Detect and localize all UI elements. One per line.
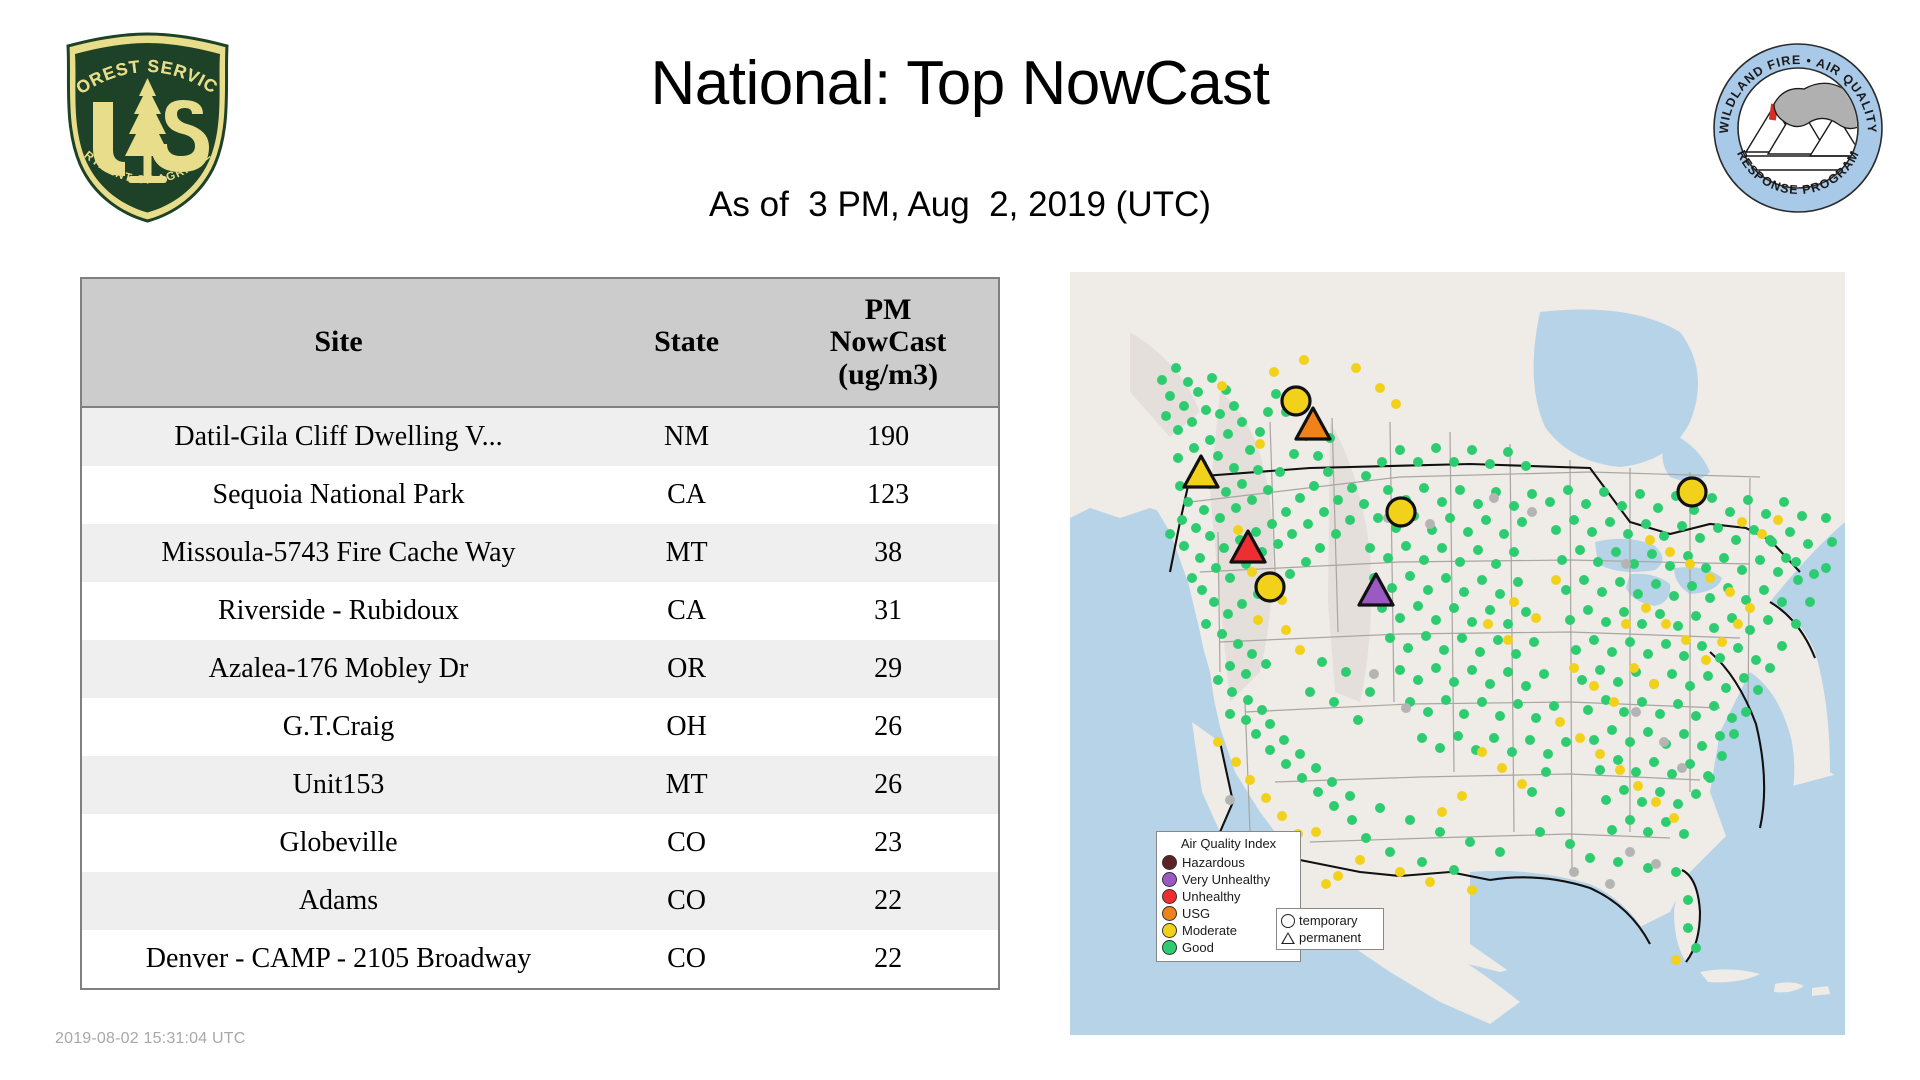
cell-state: OH [595, 698, 778, 756]
top-nowcast-table: Site State PM NowCast (ug/m3) Datil-Gila… [80, 277, 1000, 990]
cell-site: Missoula-5743 Fire Cache Way [82, 524, 595, 582]
page-title: National: Top NowCast [0, 48, 1920, 119]
cell-pm: 29 [778, 640, 998, 698]
column-header-pm-line1: PM [782, 294, 994, 326]
cell-site: Adams [82, 872, 595, 930]
cell-pm: 190 [778, 407, 998, 466]
cell-site: Globeville [82, 814, 595, 872]
aqi-swatch-moderate [1162, 923, 1177, 938]
cell-site: Unit153 [82, 756, 595, 814]
marker-denver [1387, 498, 1415, 526]
table-row[interactable]: Denver - CAMP - 2105 BroadwayCO22 [82, 930, 998, 988]
aqi-legend-item-hazardous: Hazardous [1162, 854, 1295, 871]
footer-timestamp: 2019-08-02 15:31:04 UTC [55, 1030, 246, 1048]
cell-pm: 22 [778, 930, 998, 988]
table-row[interactable]: AdamsCO22 [82, 872, 998, 930]
cell-pm: 23 [778, 814, 998, 872]
column-header-state: State [595, 279, 778, 407]
aqi-legend-item-very-unhealthy: Very Unhealthy [1162, 871, 1295, 888]
table-row[interactable]: Missoula-5743 Fire Cache WayMT38 [82, 524, 998, 582]
aqi-legend-item-unhealthy: Unhealthy [1162, 888, 1295, 905]
cell-pm: 31 [778, 582, 998, 640]
table-header-row: Site State PM NowCast (ug/m3) [82, 279, 998, 407]
aqi-swatch-unhealthy [1162, 889, 1177, 904]
cell-state: NM [595, 407, 778, 466]
cell-site: Riverside - Rubidoux [82, 582, 595, 640]
table-row[interactable]: Azalea-176 Mobley DrOR29 [82, 640, 998, 698]
cell-state: CA [595, 582, 778, 640]
cell-site: Denver - CAMP - 2105 Broadway [82, 930, 595, 988]
circle-icon [1281, 914, 1295, 928]
cell-site: G.T.Craig [82, 698, 595, 756]
marker-missoula [1282, 387, 1310, 415]
column-header-pm-line2: NowCast [782, 326, 994, 358]
cell-state: CO [595, 872, 778, 930]
column-header-site: Site [82, 279, 595, 407]
cell-state: CO [595, 930, 778, 988]
cell-pm: 38 [778, 524, 998, 582]
aqi-swatch-hazardous [1162, 855, 1177, 870]
cell-pm: 123 [778, 466, 998, 524]
table-row[interactable]: Riverside - RubidouxCA31 [82, 582, 998, 640]
national-aqi-map[interactable]: Air Quality Index Hazardous Very Unhealt… [1070, 272, 1845, 1035]
table-row[interactable]: Datil-Gila Cliff Dwelling V...NM190 [82, 407, 998, 466]
cell-pm: 22 [778, 872, 998, 930]
cell-site: Datil-Gila Cliff Dwelling V... [82, 407, 595, 466]
cell-state: CO [595, 814, 778, 872]
aqi-swatch-good [1162, 940, 1177, 955]
cell-site: Sequoia National Park [82, 466, 595, 524]
page-subtitle-timestamp: As of 3 PM, Aug 2, 2019 (UTC) [0, 185, 1920, 225]
aqi-swatch-very-unhealthy [1162, 872, 1177, 887]
cell-pm: 26 [778, 698, 998, 756]
aqi-legend-title: Air Quality Index [1162, 836, 1295, 851]
marker-gtcraig [1678, 478, 1706, 506]
column-header-pm-nowcast: PM NowCast (ug/m3) [778, 279, 998, 407]
wildland-fire-air-quality-badge-icon: WILDLAND FIRE • AIR QUALITY RESPONSE PRO… [1712, 42, 1884, 214]
monitor-type-legend: temporary permanent [1276, 908, 1384, 950]
column-header-pm-line3: (ug/m3) [782, 359, 994, 391]
table-row[interactable]: GlobevilleCO23 [82, 814, 998, 872]
marker-riverside [1256, 573, 1284, 601]
cell-pm: 26 [778, 756, 998, 814]
table-row[interactable]: G.T.CraigOH26 [82, 698, 998, 756]
table-row[interactable]: Unit153MT26 [82, 756, 998, 814]
cell-state: OR [595, 640, 778, 698]
cell-site: Azalea-176 Mobley Dr [82, 640, 595, 698]
monitor-type-temporary: temporary [1281, 912, 1379, 929]
monitor-type-permanent: permanent [1281, 929, 1379, 946]
table-row[interactable]: Sequoia National ParkCA123 [82, 466, 998, 524]
aqi-swatch-usg [1162, 906, 1177, 921]
report-page: FOREST SERVICE FOREST SERVICE DEPARTMENT… [0, 0, 1920, 1080]
cell-state: MT [595, 756, 778, 814]
cell-state: CA [595, 466, 778, 524]
triangle-icon [1281, 932, 1295, 944]
cell-state: MT [595, 524, 778, 582]
